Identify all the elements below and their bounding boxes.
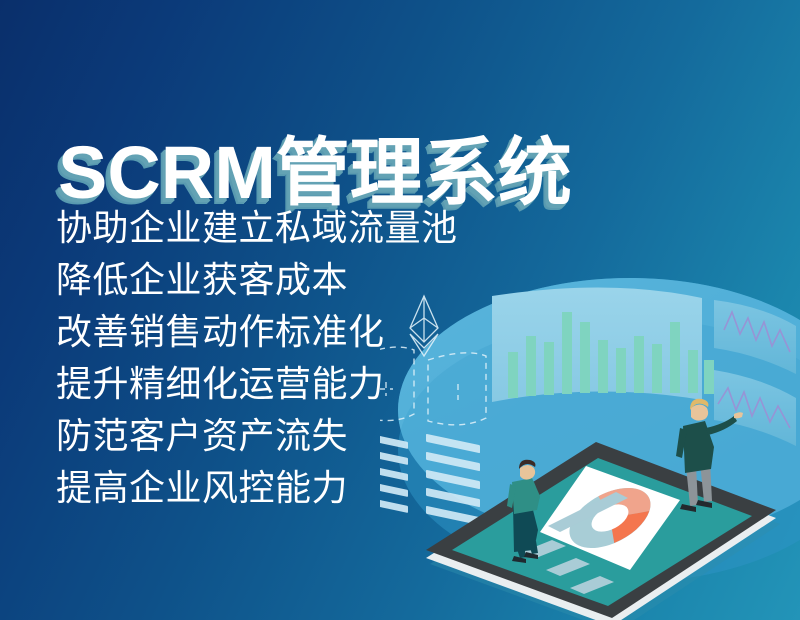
scrm-promo-banner: SCRM管理系统 协助企业建立私域流量池 降低企业获客成本 改善销售动作标准化 …	[0, 0, 800, 620]
tagline-item: 提升精细化运营能力	[56, 358, 458, 410]
tagline-list: 协助企业建立私域流量池 降低企业获客成本 改善销售动作标准化 提升精细化运营能力…	[56, 202, 458, 514]
tagline-item: 改善销售动作标准化	[56, 306, 458, 358]
tagline-item: 提高企业风控能力	[56, 462, 458, 514]
dashboard-bar-chart-panel	[492, 287, 714, 402]
tagline-item: 协助企业建立私域流量池	[56, 202, 458, 254]
tagline-item: 防范客户资产流失	[56, 410, 458, 462]
page-title: SCRM管理系统	[58, 134, 572, 212]
tagline-item: 降低企业获客成本	[56, 254, 458, 306]
